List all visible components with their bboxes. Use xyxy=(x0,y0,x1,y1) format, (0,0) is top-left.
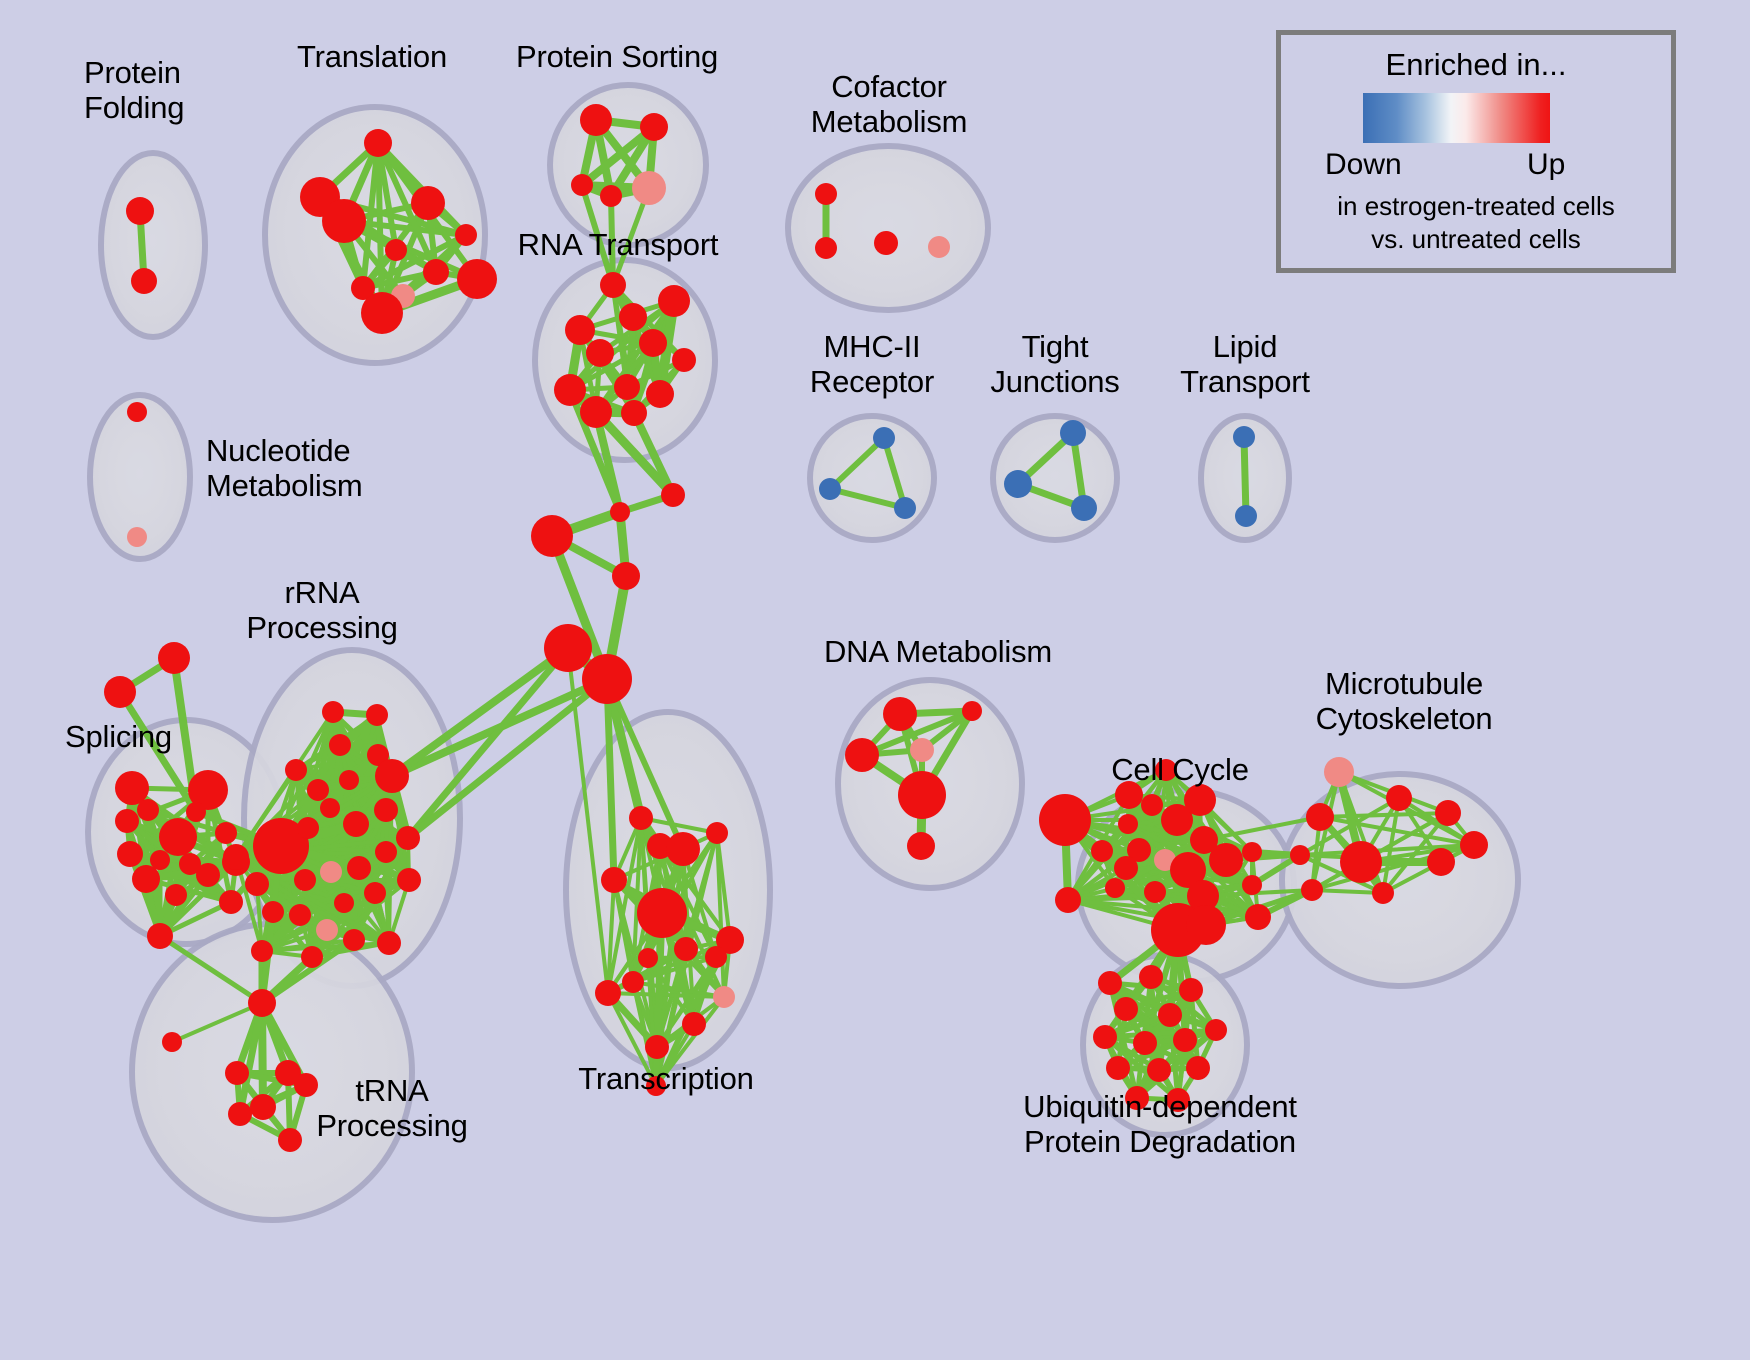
network-node[interactable] xyxy=(845,738,879,772)
network-node[interactable] xyxy=(580,104,612,136)
network-node[interactable] xyxy=(215,822,237,844)
network-node[interactable] xyxy=(815,183,837,205)
network-node[interactable] xyxy=(1242,875,1262,895)
network-node[interactable] xyxy=(658,285,690,317)
network-node[interactable] xyxy=(619,303,647,331)
network-node[interactable] xyxy=(962,701,982,721)
network-node[interactable] xyxy=(285,759,307,781)
network-node[interactable] xyxy=(1004,470,1032,498)
network-node[interactable] xyxy=(162,1032,182,1052)
network-node[interactable] xyxy=(601,867,627,893)
network-node[interactable] xyxy=(894,497,916,519)
network-node[interactable] xyxy=(640,113,668,141)
network-node[interactable] xyxy=(638,948,658,968)
network-node[interactable] xyxy=(219,890,243,914)
network-node[interactable] xyxy=(531,515,573,557)
network-node[interactable] xyxy=(582,654,632,704)
network-edge xyxy=(378,143,382,313)
network-node[interactable] xyxy=(600,272,626,298)
network-node[interactable] xyxy=(250,1094,276,1120)
legend-box: Enriched in... Down Up in estrogen-treat… xyxy=(1276,30,1676,273)
network-node[interactable] xyxy=(883,697,917,731)
cluster-label-nucleotide-metabolism: Nucleotide Metabolism xyxy=(206,434,363,503)
network-node[interactable] xyxy=(126,197,154,225)
cluster-label-translation: Translation xyxy=(297,40,447,75)
network-node[interactable] xyxy=(1290,845,1310,865)
network-node[interactable] xyxy=(248,989,276,1017)
network-node[interactable] xyxy=(682,1012,706,1036)
network-node[interactable] xyxy=(137,799,159,821)
network-node[interactable] xyxy=(228,1102,252,1126)
network-node[interactable] xyxy=(1071,495,1097,521)
network-node[interactable] xyxy=(132,865,160,893)
network-node[interactable] xyxy=(165,884,187,906)
network-node[interactable] xyxy=(1306,803,1334,831)
network-node[interactable] xyxy=(397,868,421,892)
network-node[interactable] xyxy=(898,771,946,819)
network-node[interactable] xyxy=(1133,1031,1157,1055)
network-node[interactable] xyxy=(1386,785,1412,811)
network-node[interactable] xyxy=(637,888,687,938)
network-node[interactable] xyxy=(364,129,392,157)
network-node[interactable] xyxy=(196,863,220,887)
network-node[interactable] xyxy=(1173,1028,1197,1052)
cluster-label-lipid-transport: Lipid Transport xyxy=(1180,330,1310,399)
network-node[interactable] xyxy=(262,901,284,923)
network-node[interactable] xyxy=(612,562,640,590)
network-node[interactable] xyxy=(1093,1025,1117,1049)
network-node[interactable] xyxy=(186,802,206,822)
network-node[interactable] xyxy=(874,231,898,255)
cluster-label-mhc-ii-receptor: MHC-II Receptor xyxy=(810,330,934,399)
network-node[interactable] xyxy=(713,986,735,1008)
network-node[interactable] xyxy=(554,374,586,406)
network-node[interactable] xyxy=(1147,1058,1171,1082)
network-node[interactable] xyxy=(316,919,338,941)
network-node[interactable] xyxy=(1106,1056,1130,1080)
network-node[interactable] xyxy=(622,971,644,993)
network-node[interactable] xyxy=(320,861,342,883)
cluster-label-rna-transport: RNA Transport xyxy=(518,228,719,263)
network-node[interactable] xyxy=(1340,841,1382,883)
cluster-label-trna-processing: tRNA Processing xyxy=(316,1074,467,1143)
network-node[interactable] xyxy=(225,1061,249,1085)
cluster-label-microtubule-cytoskeleton: Microtubule Cytoskeleton xyxy=(1316,667,1493,736)
network-node[interactable] xyxy=(907,832,935,860)
cluster-label-dna-metabolism: DNA Metabolism xyxy=(824,635,1052,670)
legend-subtitle: in estrogen-treated cells vs. untreated … xyxy=(1281,190,1671,257)
network-node[interactable] xyxy=(322,199,366,243)
network-node[interactable] xyxy=(1324,757,1354,787)
network-node[interactable] xyxy=(1245,904,1271,930)
network-node[interactable] xyxy=(117,841,143,867)
network-node[interactable] xyxy=(159,818,197,856)
network-node[interactable] xyxy=(127,402,147,422)
network-node[interactable] xyxy=(294,1073,318,1097)
network-node[interactable] xyxy=(377,931,401,955)
cluster-label-cell-cycle: Cell Cycle xyxy=(1111,753,1249,788)
network-node[interactable] xyxy=(1105,878,1125,898)
network-node[interactable] xyxy=(705,946,727,968)
network-node[interactable] xyxy=(646,380,674,408)
network-node[interactable] xyxy=(411,186,445,220)
network-node[interactable] xyxy=(375,841,397,863)
network-node[interactable] xyxy=(375,759,409,793)
network-node[interactable] xyxy=(158,642,190,674)
network-node[interactable] xyxy=(343,929,365,951)
network-node[interactable] xyxy=(131,268,157,294)
network-node[interactable] xyxy=(1179,978,1203,1002)
network-node[interactable] xyxy=(278,1128,302,1152)
network-node[interactable] xyxy=(322,701,344,723)
network-node[interactable] xyxy=(1186,905,1226,945)
network-node[interactable] xyxy=(1098,971,1122,995)
network-node[interactable] xyxy=(364,882,386,904)
network-node[interactable] xyxy=(672,348,696,372)
network-node[interactable] xyxy=(706,822,728,844)
network-node[interactable] xyxy=(1118,814,1138,834)
cluster-label-protein-folding: Protein Folding xyxy=(84,56,184,125)
enrichment-map-figure: Protein FoldingTranslationProtein Sortin… xyxy=(0,0,1750,1360)
network-node[interactable] xyxy=(366,704,388,726)
legend-color-gradient xyxy=(1363,93,1550,143)
network-node[interactable] xyxy=(1186,1056,1210,1080)
network-node[interactable] xyxy=(297,817,319,839)
network-node[interactable] xyxy=(1055,887,1081,913)
network-node[interactable] xyxy=(1114,856,1138,880)
network-node[interactable] xyxy=(565,315,595,345)
network-node[interactable] xyxy=(1460,831,1488,859)
network-node[interactable] xyxy=(343,811,369,837)
network-node[interactable] xyxy=(374,798,398,822)
cluster-label-protein-sorting: Protein Sorting xyxy=(516,40,718,75)
network-node[interactable] xyxy=(586,339,614,367)
network-node[interactable] xyxy=(1091,840,1113,862)
network-node[interactable] xyxy=(580,396,612,428)
network-edge xyxy=(1244,437,1246,516)
network-node[interactable] xyxy=(104,676,136,708)
network-node[interactable] xyxy=(385,239,407,261)
network-node[interactable] xyxy=(320,798,340,818)
network-node[interactable] xyxy=(457,259,497,299)
network-node[interactable] xyxy=(815,237,837,259)
network-node[interactable] xyxy=(674,937,698,961)
cluster-label-tight-junctions: Tight Junctions xyxy=(990,330,1119,399)
network-node[interactable] xyxy=(639,329,667,357)
network-node[interactable] xyxy=(1242,842,1262,862)
network-node[interactable] xyxy=(1233,426,1255,448)
cluster-bubble xyxy=(810,416,934,540)
network-node[interactable] xyxy=(455,224,477,246)
network-node[interactable] xyxy=(1158,1003,1182,1027)
network-node[interactable] xyxy=(361,292,403,334)
network-node[interactable] xyxy=(610,502,630,522)
cluster-label-splicing: Splicing xyxy=(65,720,172,755)
network-node[interactable] xyxy=(1141,794,1163,816)
network-node[interactable] xyxy=(251,940,273,962)
network-node[interactable] xyxy=(595,980,621,1006)
network-node[interactable] xyxy=(127,527,147,547)
network-node[interactable] xyxy=(1372,882,1394,904)
network-node[interactable] xyxy=(147,923,173,949)
network-node[interactable] xyxy=(301,946,323,968)
cluster-bubble xyxy=(101,153,205,337)
network-node[interactable] xyxy=(645,1035,669,1059)
network-node[interactable] xyxy=(1235,505,1257,527)
cluster-label-rrna-processing: rRNA Processing xyxy=(246,576,397,645)
cluster-label-cofactor-metabolism: Cofactor Metabolism xyxy=(811,70,968,139)
network-node[interactable] xyxy=(571,174,593,196)
network-node[interactable] xyxy=(1301,879,1323,901)
legend-title: Enriched in... xyxy=(1281,47,1671,83)
network-node[interactable] xyxy=(544,624,592,672)
network-node[interactable] xyxy=(289,904,311,926)
network-node[interactable] xyxy=(347,856,371,880)
network-node[interactable] xyxy=(1184,784,1216,816)
network-node[interactable] xyxy=(1205,1019,1227,1041)
network-node[interactable] xyxy=(294,869,316,891)
network-node[interactable] xyxy=(632,171,666,205)
network-node[interactable] xyxy=(1039,794,1091,846)
cluster-bubble xyxy=(788,146,988,310)
cluster-label-ubiquitin-degradation: Ubiquitin-dependent Protein Degradation xyxy=(1023,1090,1297,1159)
network-node[interactable] xyxy=(629,806,653,830)
network-node[interactable] xyxy=(1427,848,1455,876)
network-node[interactable] xyxy=(115,809,139,833)
network-node[interactable] xyxy=(1144,881,1166,903)
legend-high-label: Up xyxy=(1527,148,1565,182)
network-node[interactable] xyxy=(339,770,359,790)
network-node[interactable] xyxy=(1060,420,1086,446)
network-node[interactable] xyxy=(661,483,685,507)
network-node[interactable] xyxy=(1114,997,1138,1021)
network-node[interactable] xyxy=(614,374,640,400)
network-node[interactable] xyxy=(329,734,351,756)
network-node[interactable] xyxy=(334,893,354,913)
network-node[interactable] xyxy=(223,844,249,870)
network-node[interactable] xyxy=(819,478,841,500)
network-node[interactable] xyxy=(1209,843,1243,877)
cluster-label-transcription: Transcription xyxy=(578,1062,753,1097)
network-node[interactable] xyxy=(1139,965,1163,989)
network-node[interactable] xyxy=(1435,800,1461,826)
network-node[interactable] xyxy=(307,779,329,801)
network-node[interactable] xyxy=(910,738,934,762)
network-node[interactable] xyxy=(423,259,449,285)
network-node[interactable] xyxy=(396,826,420,850)
network-node[interactable] xyxy=(600,185,622,207)
network-node[interactable] xyxy=(245,872,269,896)
network-node[interactable] xyxy=(928,236,950,258)
network-node[interactable] xyxy=(666,832,700,866)
network-node[interactable] xyxy=(873,427,895,449)
legend-low-label: Down xyxy=(1325,148,1402,182)
network-node[interactable] xyxy=(621,400,647,426)
